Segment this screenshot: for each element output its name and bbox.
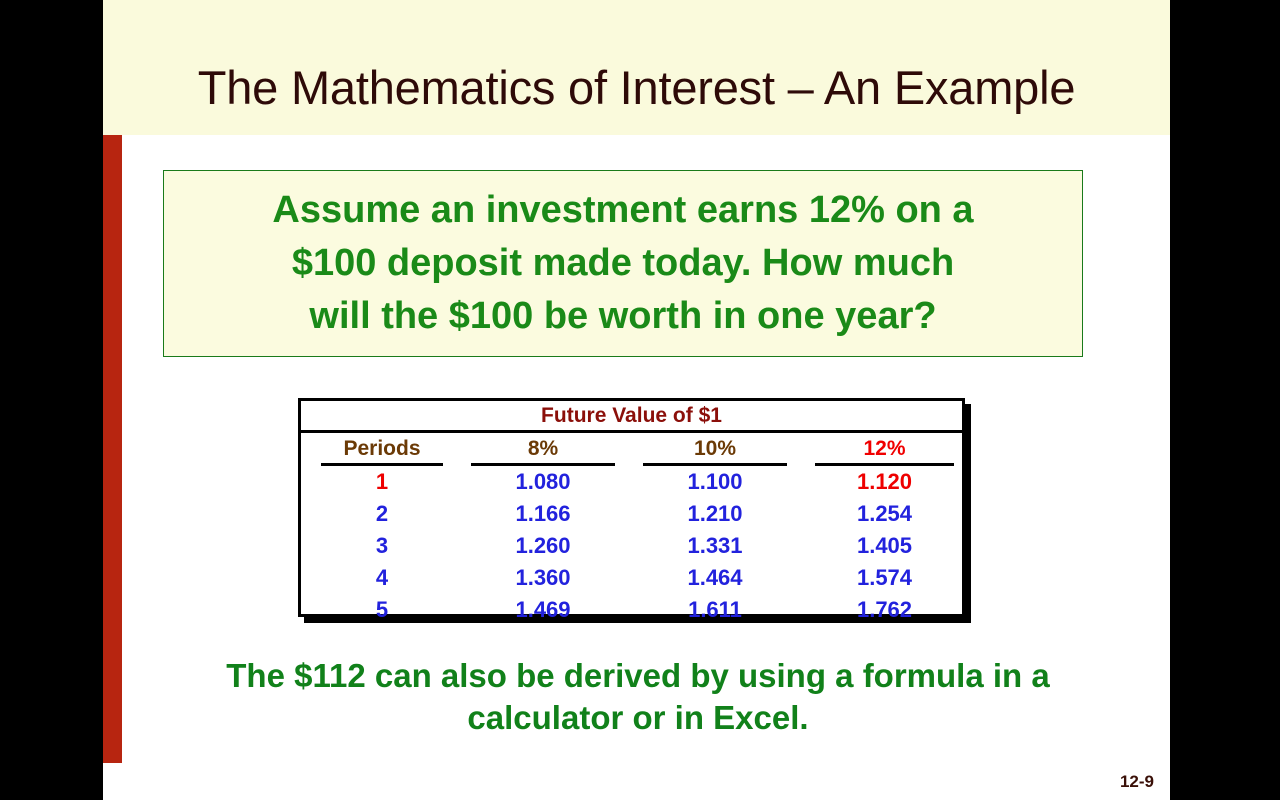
cell-factor-10: 1.611 bbox=[629, 594, 801, 626]
future-value-table: Future Value of $1 Periods 8% 10% 12% 1 … bbox=[298, 398, 965, 617]
cell-factor-12: 1.574 bbox=[801, 562, 968, 594]
cell-factor-12: 1.254 bbox=[801, 498, 968, 530]
cell-factor-10: 1.464 bbox=[629, 562, 801, 594]
callout-text: Assume an investment earns 12% on a $100… bbox=[250, 184, 995, 343]
cell-factor-12: 1.120 bbox=[801, 466, 968, 498]
bottom-note: The $112 can also be derived by using a … bbox=[148, 655, 1128, 739]
table-header-row: Periods 8% 10% 12% bbox=[301, 433, 962, 466]
cell-factor-8: 1.260 bbox=[457, 530, 629, 562]
cell-period: 1 bbox=[307, 466, 457, 498]
table-header-10pct: 10% bbox=[643, 433, 787, 466]
table-title: Future Value of $1 bbox=[301, 401, 962, 433]
cell-factor-8: 1.360 bbox=[457, 562, 629, 594]
cell-factor-10: 1.331 bbox=[629, 530, 801, 562]
cell-factor-8: 1.166 bbox=[457, 498, 629, 530]
cell-factor-8: 1.080 bbox=[457, 466, 629, 498]
cell-period: 4 bbox=[307, 562, 457, 594]
cell-factor-10: 1.100 bbox=[629, 466, 801, 498]
slide-canvas: The Mathematics of Interest – An Example… bbox=[103, 0, 1170, 800]
page-title: The Mathematics of Interest – An Example bbox=[103, 60, 1170, 115]
table-header-12pct: 12% bbox=[815, 433, 954, 466]
cell-period: 2 bbox=[307, 498, 457, 530]
slide-number: 12-9 bbox=[1120, 772, 1154, 792]
cell-factor-10: 1.210 bbox=[629, 498, 801, 530]
left-accent-bar bbox=[103, 135, 122, 763]
cell-period: 3 bbox=[307, 530, 457, 562]
table-row: 1 1.080 1.100 1.120 bbox=[301, 466, 962, 498]
table-row: 2 1.166 1.210 1.254 bbox=[301, 498, 962, 530]
cell-period: 5 bbox=[307, 594, 457, 626]
cell-factor-8: 1.469 bbox=[457, 594, 629, 626]
table-body: Future Value of $1 Periods 8% 10% 12% 1 … bbox=[298, 398, 965, 617]
table-row: 3 1.260 1.331 1.405 bbox=[301, 530, 962, 562]
table-header-8pct: 8% bbox=[471, 433, 615, 466]
cell-factor-12: 1.762 bbox=[801, 594, 968, 626]
table-header-periods: Periods bbox=[321, 433, 443, 466]
slide-stage: The Mathematics of Interest – An Example… bbox=[0, 0, 1280, 800]
table-row: 4 1.360 1.464 1.574 bbox=[301, 562, 962, 594]
cell-factor-12: 1.405 bbox=[801, 530, 968, 562]
callout-box: Assume an investment earns 12% on a $100… bbox=[163, 170, 1083, 357]
table-row: 5 1.469 1.611 1.762 bbox=[301, 594, 962, 626]
